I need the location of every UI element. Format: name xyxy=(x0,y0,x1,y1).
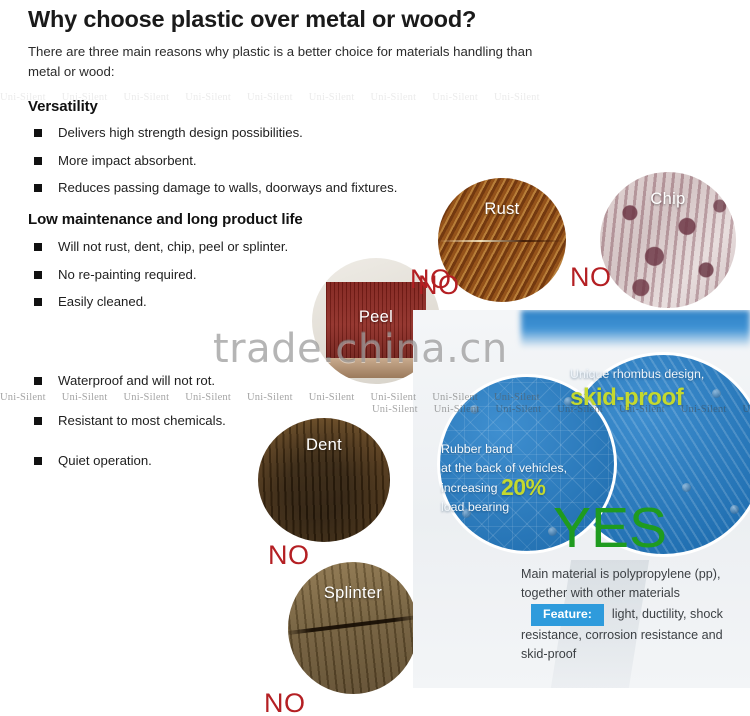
bullet-list-extra: Waterproof and will not rot. Resistant t… xyxy=(34,372,226,492)
section-heading-low-maintenance: Low maintenance and long product life xyxy=(28,211,303,228)
verdict-no-dent: NO xyxy=(268,542,310,569)
square-bullet-icon xyxy=(34,417,42,425)
skid-proof-highlight: skid-proof xyxy=(570,384,683,412)
square-bullet-icon xyxy=(34,457,42,465)
rubber-line-1: Rubber band xyxy=(441,442,513,456)
square-bullet-icon xyxy=(34,129,42,137)
square-bullet-icon xyxy=(34,271,42,279)
list-item-label: Waterproof and will not rot. xyxy=(58,373,215,388)
list-item-label: Resistant to most chemicals. xyxy=(58,413,226,428)
list-item: No re-painting required. xyxy=(34,266,288,283)
photo-label-rust: Rust xyxy=(438,200,566,219)
list-item-label: More impact absorbent. xyxy=(58,153,197,168)
square-bullet-icon xyxy=(34,243,42,251)
list-item: Will not rust, dent, chip, peel or splin… xyxy=(34,238,288,255)
list-item-label: Delivers high strength design possibilit… xyxy=(58,125,303,140)
photo-label-dent: Dent xyxy=(258,436,390,455)
watermark-site: trade.china.cn xyxy=(213,326,508,372)
watermark-brand: Uni-Silent xyxy=(309,92,355,103)
verdict-no-splinter: NO xyxy=(264,690,306,716)
list-item: Quiet operation. xyxy=(34,452,226,469)
material-description: Main material is polypropylene (pp), tog… xyxy=(521,565,743,603)
list-item-label: Reduces passing damage to walls, doorway… xyxy=(58,180,397,195)
list-item-label: Easily cleaned. xyxy=(58,294,147,309)
watermark-brand: Uni-Silent xyxy=(371,92,417,103)
verdict-no-chip: NO xyxy=(570,264,612,291)
watermark-brand: Uni-Silent xyxy=(247,92,293,103)
list-item: Reduces passing damage to walls, doorway… xyxy=(34,179,397,196)
rubber-line-4: load bearing xyxy=(441,500,509,514)
page-title: Why choose plastic over metal or wood? xyxy=(28,6,548,33)
list-item: Resistant to most chemicals. xyxy=(34,412,226,429)
list-item: Delivers high strength design possibilit… xyxy=(34,124,397,141)
load-bearing-percent: 20% xyxy=(501,474,546,500)
square-bullet-icon xyxy=(34,157,42,165)
watermark-brand: Uni-Silent xyxy=(185,92,231,103)
list-item-label: Quiet operation. xyxy=(58,453,152,468)
rubber-line-2: at the back of vehicles, xyxy=(441,461,567,475)
list-item-label: Will not rust, dent, chip, peel or splin… xyxy=(58,239,288,254)
photo-splinter: Splinter xyxy=(288,562,418,694)
watermark-row-top: Uni-SilentUni-SilentUni-SilentUni-Silent… xyxy=(0,92,750,103)
photo-dent: Dent xyxy=(258,418,390,542)
list-item: Easily cleaned. xyxy=(34,293,288,310)
verdict-no-peel: NO xyxy=(418,272,460,299)
intro-paragraph: There are three main reasons why plastic… xyxy=(28,42,538,82)
watermark-brand: Uni-Silent xyxy=(494,92,540,103)
bullet-list-low-maintenance: Will not rust, dent, chip, peel or splin… xyxy=(34,238,288,321)
disc-dot xyxy=(682,483,691,492)
infographic-page: Why choose plastic over metal or wood? T… xyxy=(0,0,750,716)
feature-line: Feature:light, ductility, shock resistan… xyxy=(521,604,749,664)
list-item: More impact absorbent. xyxy=(34,152,397,169)
square-bullet-icon xyxy=(34,298,42,306)
bullet-list-versatility: Delivers high strength design possibilit… xyxy=(34,124,397,207)
disc-dot xyxy=(712,389,721,398)
list-item-label: No re-painting required. xyxy=(58,267,197,282)
disc-dot xyxy=(470,405,479,414)
list-item: Waterproof and will not rot. xyxy=(34,372,226,389)
disc-dot xyxy=(730,505,739,514)
square-bullet-icon xyxy=(34,377,42,385)
photo-label-splinter: Splinter xyxy=(288,584,418,603)
rhombus-caption: Unique rhombus design, xyxy=(570,366,745,382)
photo-chip: Chip xyxy=(600,172,736,308)
verdict-yes: YES xyxy=(553,500,667,557)
photo-label-chip: Chip xyxy=(600,190,736,209)
section-heading-versatility: Versatility xyxy=(28,98,98,115)
rubber-line-3: increasing xyxy=(441,481,497,495)
square-bullet-icon xyxy=(34,184,42,192)
panel-top-gradient xyxy=(521,310,750,348)
watermark-brand: Uni-Silent xyxy=(124,92,170,103)
feature-badge: Feature: xyxy=(531,604,604,626)
watermark-brand: Uni-Silent xyxy=(432,92,478,103)
